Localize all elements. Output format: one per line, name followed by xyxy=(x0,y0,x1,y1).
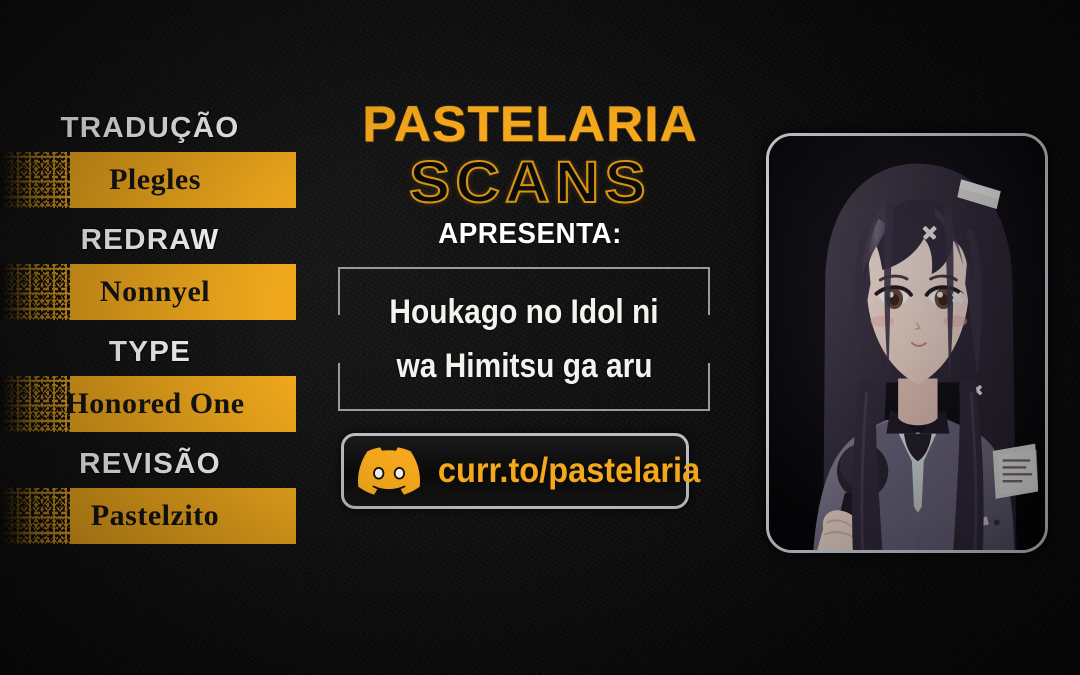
presents-label: APRESENTA: xyxy=(338,218,722,251)
credit-name-text: Nonnyel xyxy=(0,264,296,320)
credit-entry-redraw: REDRAW Nonnyel xyxy=(0,216,300,320)
credit-role-label: TYPE xyxy=(0,328,303,376)
character-artwork-panel xyxy=(766,133,1048,553)
center-column: PASTELARIA SCANS APRESENTA: Houkago no I… xyxy=(330,96,730,509)
credit-entry-revisao: REVISÃO Pastelzito xyxy=(0,440,300,544)
credit-entry-traducao: TRADUÇÃO Plegles xyxy=(0,104,300,208)
credit-name-bar: Plegles xyxy=(0,152,296,208)
credit-name-bar: Nonnyel xyxy=(0,264,296,320)
credit-name-text: Honored One xyxy=(0,376,296,432)
credit-role-label: REVISÃO xyxy=(0,440,303,488)
discord-url-text: curr.to/pastelaria xyxy=(438,451,700,491)
credit-name-bar: Honored One xyxy=(0,376,296,432)
discord-link-button[interactable]: curr.to/pastelaria xyxy=(341,433,689,509)
credit-name-bar: Pastelzito xyxy=(0,488,296,544)
scanlation-group-logo-bottom: SCANS xyxy=(318,152,742,214)
manga-title: Houkago no Idol ni wa Himitsu ga aru xyxy=(338,267,710,411)
staff-credits-list: TRADUÇÃO Plegles REDRAW Nonnyel TYPE Hon… xyxy=(0,104,300,552)
manga-title-frame: Houkago no Idol ni wa Himitsu ga aru xyxy=(338,267,710,411)
manga-title-line-2: wa Himitsu ga aru xyxy=(396,340,652,392)
credit-entry-type: TYPE Honored One xyxy=(0,328,300,432)
credit-name-text: Plegles xyxy=(0,152,296,208)
credit-name-text: Pastelzito xyxy=(0,488,296,544)
credit-role-label: TRADUÇÃO xyxy=(0,104,303,152)
anime-idol-girl-illustration xyxy=(769,136,1045,550)
manga-title-line-1: Houkago no Idol ni xyxy=(389,286,658,338)
discord-icon xyxy=(358,447,420,495)
scanlation-group-logo-top: PASTELARIA xyxy=(324,96,736,152)
credit-role-label: REDRAW xyxy=(0,216,303,264)
credits-page: TRADUÇÃO Plegles REDRAW Nonnyel TYPE Hon… xyxy=(0,0,1080,675)
